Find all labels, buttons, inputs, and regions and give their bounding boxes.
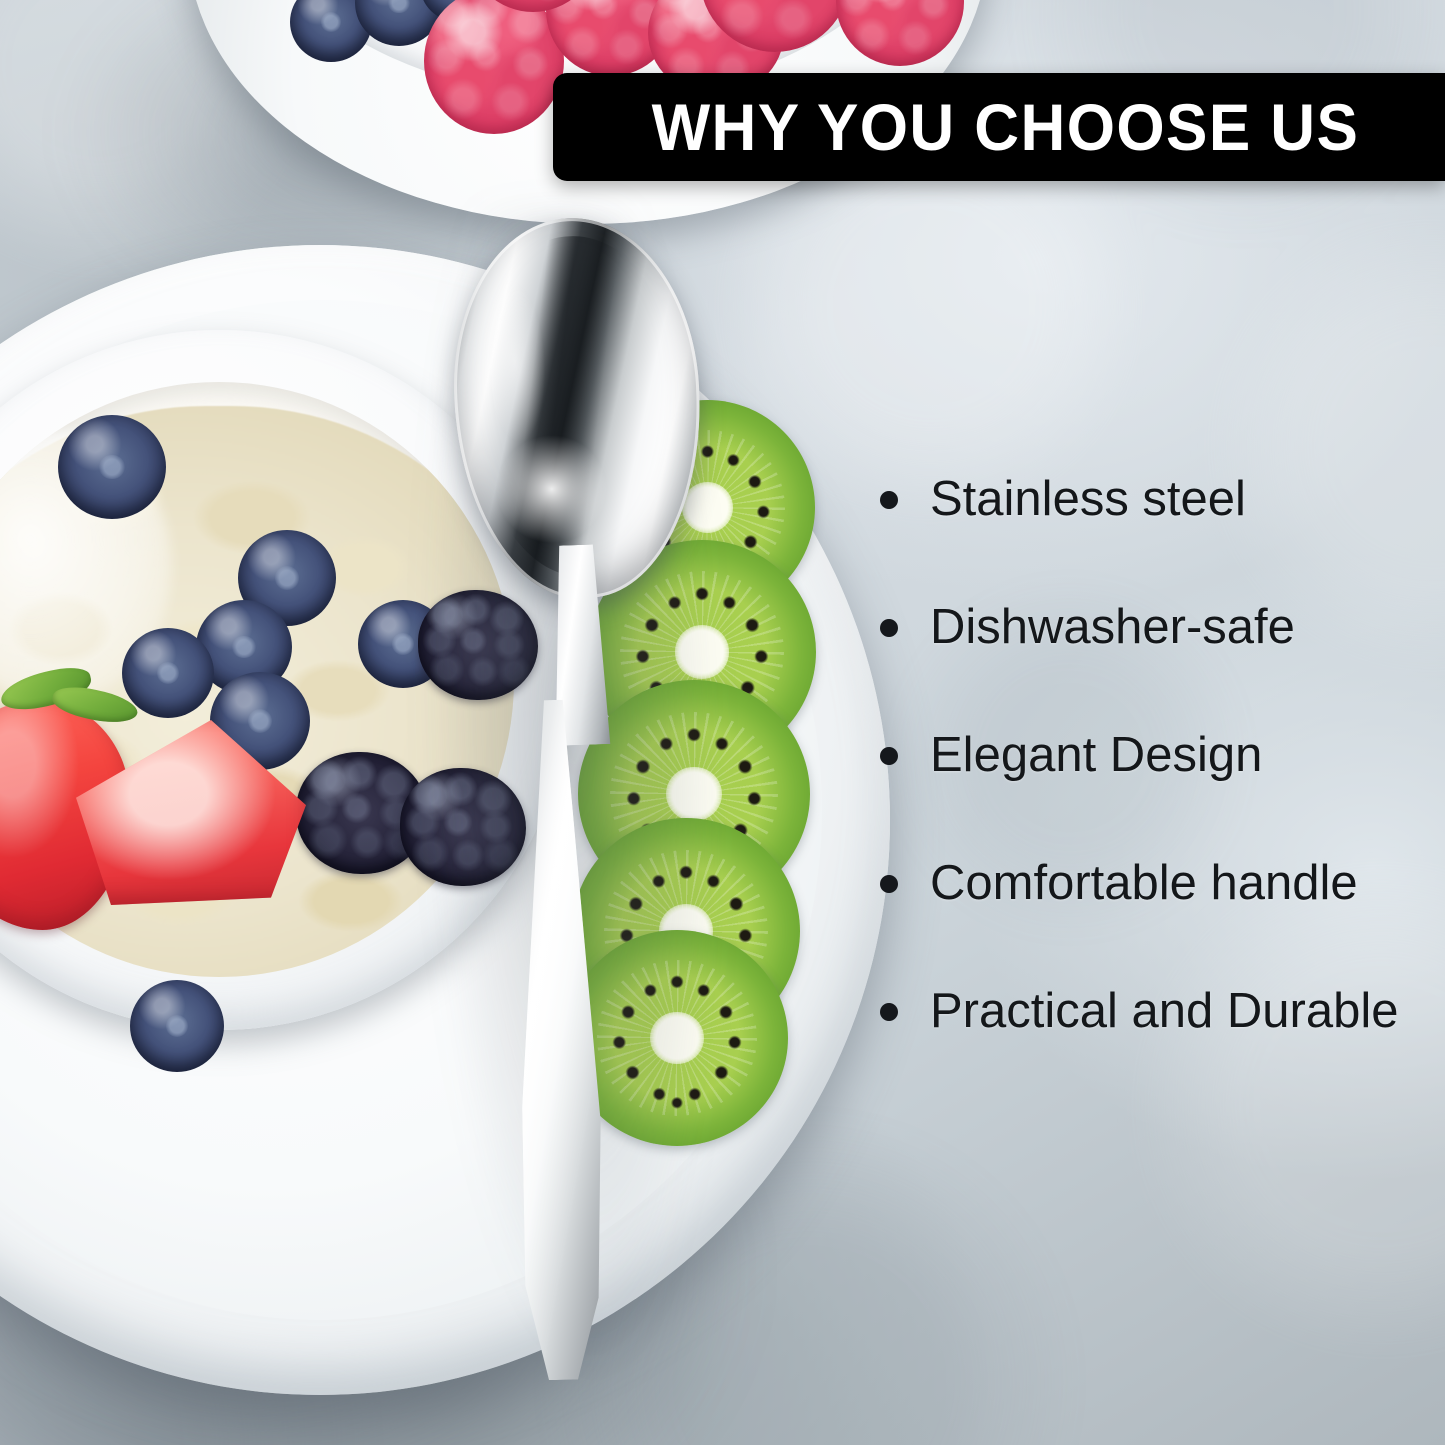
bullet-icon — [880, 1003, 898, 1021]
feature-item-stainless-steel: Stainless steel — [880, 436, 1425, 564]
feature-label: Stainless steel — [930, 474, 1246, 525]
feature-list: Stainless steel Dishwasher-safe Elegant … — [880, 436, 1425, 1076]
feature-item-elegant-design: Elegant Design — [880, 692, 1425, 820]
blueberry — [58, 415, 166, 519]
bullet-icon — [880, 619, 898, 637]
blueberry — [122, 628, 214, 718]
feature-label: Comfortable handle — [930, 858, 1358, 909]
banner-title: WHY YOU CHOOSE US — [651, 94, 1359, 160]
product-feature-image: WHY YOU CHOOSE US Stainless steel Dishwa… — [0, 0, 1445, 1445]
header-banner: WHY YOU CHOOSE US — [553, 73, 1445, 181]
feature-label: Dishwasher-safe — [930, 602, 1295, 653]
feature-label: Practical and Durable — [930, 986, 1398, 1037]
feature-label: Elegant Design — [930, 730, 1262, 781]
bullet-icon — [880, 747, 898, 765]
feature-item-comfortable-handle: Comfortable handle — [880, 820, 1425, 948]
bullet-icon — [880, 875, 898, 893]
feature-item-practical-and-durable: Practical and Durable — [880, 948, 1425, 1076]
bullet-icon — [880, 491, 898, 509]
blueberry — [130, 980, 224, 1072]
feature-item-dishwasher-safe: Dishwasher-safe — [880, 564, 1425, 692]
